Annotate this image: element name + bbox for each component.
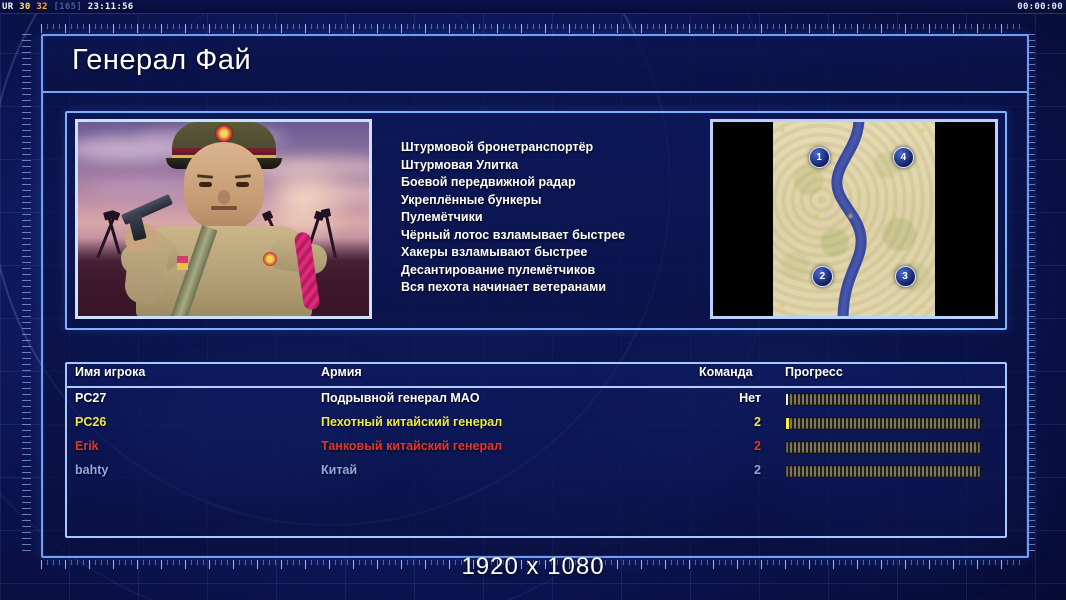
minimap-start-position[interactable]: 2 [812, 266, 833, 287]
ability-item: Чёрный лотос взламывает быстрее [401, 227, 691, 245]
player-progress-bar [785, 441, 981, 454]
table-row[interactable]: ErikТанковый китайский генерал2 [67, 436, 1005, 460]
panel-titlebar: Генерал Фай [43, 36, 1027, 93]
page-title: Генерал Фай [72, 44, 251, 77]
player-army: Подрывной генерал MAO [321, 391, 480, 405]
general-portrait-image [78, 122, 369, 316]
player-progress-bar [785, 417, 981, 430]
player-team: 2 [699, 415, 761, 429]
player-name: bahty [75, 463, 108, 477]
player-progress-bar [785, 465, 981, 478]
column-header-team: Команда [699, 365, 753, 379]
column-header-name: Имя игрока [75, 365, 145, 379]
figure-nose [218, 190, 230, 204]
column-header-army: Армия [321, 365, 362, 379]
table-row[interactable]: bahtyКитай2 [67, 460, 1005, 484]
uniform-medal-icon [177, 256, 188, 270]
player-army: Танковый китайский генерал [321, 439, 502, 453]
ability-item: Штурмовой бронетранспортёр [401, 139, 691, 157]
minimap-supply-icon: ✳ [779, 128, 785, 134]
status-bar-left: UR 30 32 [165] 23:11:56 [0, 2, 134, 12]
general-abilities-list: Штурмовой бронетранспортёр Штурмовая Ули… [401, 139, 691, 297]
ability-item: Хакеры взламывают быстрее [401, 244, 691, 262]
ruler-top [41, 24, 1025, 33]
status-bar: UR 30 32 [165] 23:11:56 00:00:00 [0, 0, 1066, 14]
general-details-panel: Штурмовой бронетранспортёр Штурмовая Ули… [65, 111, 1007, 330]
player-army: Китай [321, 463, 357, 477]
column-header-progress: Прогресс [785, 365, 843, 379]
figure-brow [196, 174, 212, 178]
ability-item: Пулемётчики [401, 209, 691, 227]
player-name: PC27 [75, 391, 106, 405]
minimap[interactable]: ✳ ✳ ✳ ✳ ✳ ✳ ✳ 1 4 2 3 [710, 119, 998, 319]
player-list-panel: Имя игрока Армия Команда Прогресс PC27По… [65, 362, 1007, 538]
pistol-icon [121, 200, 175, 240]
player-army: Пехотный китайский генерал [321, 415, 502, 429]
player-team: 2 [699, 463, 761, 477]
minimap-start-position[interactable]: 4 [893, 147, 914, 168]
player-name: Erik [75, 439, 99, 453]
player-team: 2 [699, 439, 761, 453]
pistol-grip [128, 215, 146, 241]
table-row[interactable]: PC26Пехотный китайский генерал2 [67, 412, 1005, 436]
player-team: Нет [699, 391, 761, 405]
progress-fill [786, 418, 789, 429]
ruler-left [22, 34, 31, 554]
minimap-supply-icon: ✳ [891, 214, 897, 220]
player-table-body: PC27Подрывной генерал MAOНетPC26Пехотный… [67, 388, 1005, 484]
cap-emblem-icon [215, 125, 232, 142]
status-label: UR [2, 2, 13, 12]
minimap-supply-icon: ✳ [919, 128, 925, 134]
ability-item: Боевой передвижной радар [401, 174, 691, 192]
minimap-start-position[interactable]: 1 [809, 147, 830, 168]
figure-head [184, 142, 264, 230]
status-value-c: [165] [53, 2, 82, 12]
game-screen: UR 30 32 [165] 23:11:56 00:00:00 Генерал… [0, 0, 1066, 600]
ability-item: Укреплённые бункеры [401, 192, 691, 210]
minimap-supply-icon: ✳ [813, 214, 819, 220]
minimap-terrain: ✳ ✳ ✳ ✳ ✳ ✳ ✳ 1 4 2 3 [773, 122, 935, 316]
status-value-a: 30 [19, 2, 30, 12]
figure-eye [199, 182, 212, 187]
table-row[interactable]: PC27Подрывной генерал MAOНет [67, 388, 1005, 412]
player-name: PC26 [75, 415, 106, 429]
uniform-badge-icon [263, 252, 277, 266]
minimap-supply-icon: ✳ [779, 304, 785, 310]
player-table-header: Имя игрока Армия Команда Прогресс [67, 364, 1005, 388]
figure-mouth [211, 206, 237, 210]
status-clock-left: 23:11:56 [88, 2, 134, 12]
status-clock-right: 00:00:00 [1017, 2, 1066, 12]
minimap-supply-icon: ✳ [919, 304, 925, 310]
ability-item: Вся пехота начинает ветеранами [401, 279, 691, 297]
general-info-panel: Генерал Фай [41, 34, 1029, 558]
progress-fill [786, 394, 788, 405]
figure-eye [236, 182, 249, 187]
resolution-label: 1920 x 1080 [0, 553, 1066, 581]
general-figure [119, 166, 329, 316]
minimap-start-position[interactable]: 3 [895, 266, 916, 287]
figure-brow [234, 174, 250, 178]
ability-item: Десантирование пулемётчиков [401, 262, 691, 280]
general-portrait-frame [75, 119, 372, 319]
status-value-b: 32 [36, 2, 47, 12]
minimap-supply-icon: ✳ [847, 214, 853, 220]
ability-item: Штурмовая Улитка [401, 157, 691, 175]
player-progress-bar [785, 393, 981, 406]
